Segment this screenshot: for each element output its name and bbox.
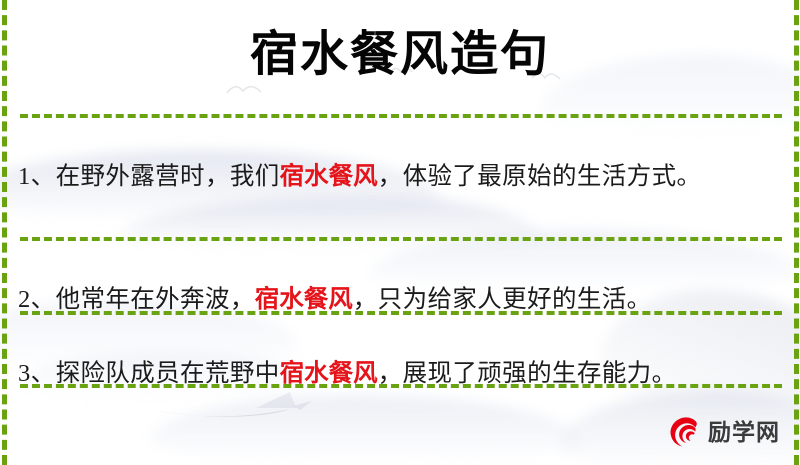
sentence-index: 2、: [18, 286, 56, 313]
idiom-keyword: 宿水餐风: [280, 161, 378, 190]
sentence-text-after: ，只为给家人更好的生活。: [353, 286, 652, 313]
idiom-keyword: 宿水餐风: [280, 358, 378, 387]
bird-icon: [225, 82, 265, 98]
site-watermark-logo[interactable]: 励学网: [660, 412, 786, 454]
divider-between-sentence-1-and-2: [20, 237, 782, 241]
list-item: 1、在野外露营时，我们宿水餐风，体验了最原始的生活方式。: [18, 155, 776, 197]
sentence-text-after: ，体验了最原始的生活方式。: [378, 163, 702, 190]
background-water-center: [150, 395, 580, 463]
boat-icon: [150, 388, 320, 430]
sentence-example-page: 宿水餐风造句 1、在野外露营时，我们宿水餐风，体验了最原始的生活方式。 2、他常…: [0, 0, 800, 465]
swirl-flame-icon: [666, 415, 702, 451]
sentence-text-after: ，展现了顽强的生存能力。: [378, 360, 677, 387]
divider-above-sentence-1: [20, 114, 782, 118]
sentence-index: 3、: [18, 360, 56, 387]
sentence-index: 1、: [18, 163, 56, 190]
page-title: 宿水餐风造句: [0, 24, 800, 84]
idiom-keyword: 宿水餐风: [255, 284, 353, 313]
list-item: 3、探险队成员在荒野中宿水餐风，展现了顽强的生存能力。: [18, 352, 776, 394]
list-item: 2、他常年在外奔波，宿水餐风，只为给家人更好的生活。: [18, 278, 776, 320]
sentence-text-before: 他常年在外奔波，: [56, 286, 255, 313]
sentence-text-before: 在野外露营时，我们: [56, 163, 280, 190]
brand-name: 励学网: [708, 420, 780, 446]
sentence-text-before: 探险队成员在荒野中: [56, 360, 280, 387]
